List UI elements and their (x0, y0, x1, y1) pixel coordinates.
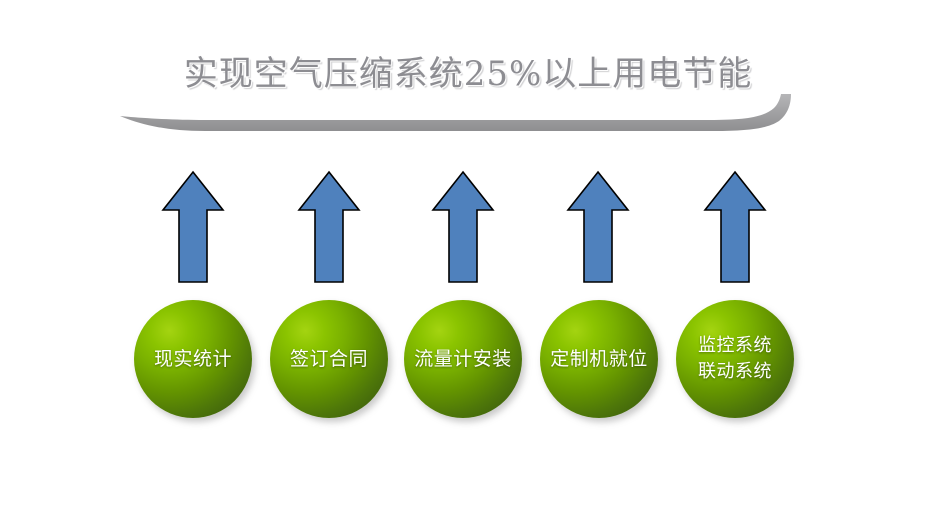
step-node-1[interactable]: 现实统计 (134, 300, 252, 418)
up-arrow-icon (431, 170, 495, 286)
title-banner: 实现空气压缩系统25%以上用电节能 (110, 38, 810, 143)
step-label: 流量计安装 (410, 347, 516, 372)
page-title: 实现空气压缩系统25%以上用电节能 (148, 46, 788, 102)
step-node-3[interactable]: 流量计安装 (404, 300, 522, 418)
step-node-5[interactable]: 监控系统 联动系统 (676, 300, 794, 418)
step-label: 现实统计 (150, 347, 236, 372)
step-label: 签订合同 (286, 347, 372, 372)
step-node-4[interactable]: 定制机就位 (540, 300, 658, 418)
up-arrow-icon (703, 170, 767, 286)
slide-canvas: 实现空气压缩系统25%以上用电节能 现实统计 签订合同 流量计安装 定制机就位 … (0, 0, 945, 529)
step-label: 监控系统 联动系统 (694, 333, 776, 385)
step-node-2[interactable]: 签订合同 (270, 300, 388, 418)
up-arrow-icon (566, 170, 630, 286)
up-arrow-icon (161, 170, 225, 286)
up-arrow-icon (297, 170, 361, 286)
step-label: 定制机就位 (546, 347, 652, 372)
